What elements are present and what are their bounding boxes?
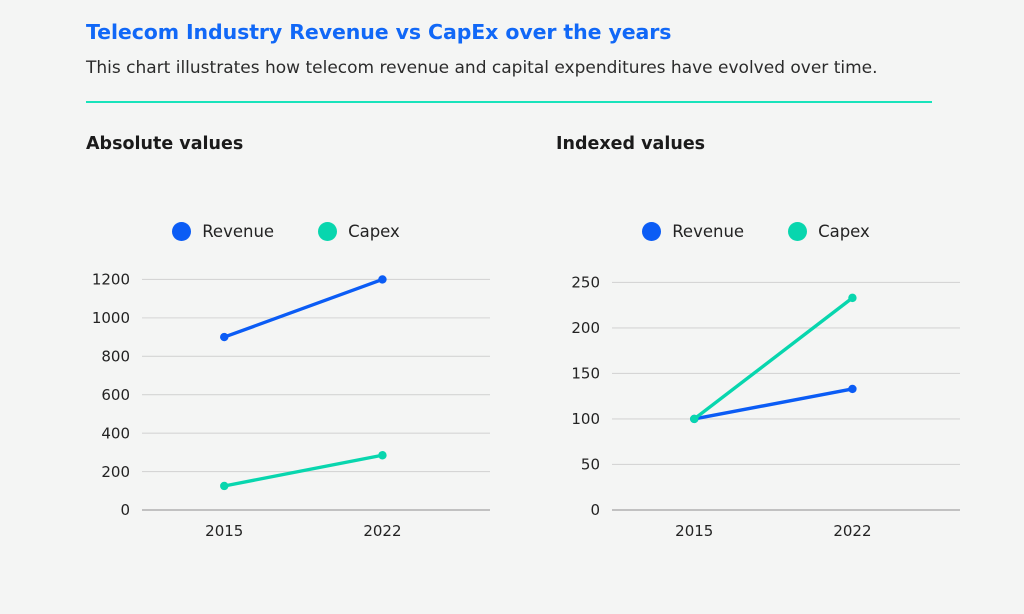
header: Telecom Industry Revenue vs CapEx over t… [86, 20, 966, 78]
data-point-capex[interactable] [378, 451, 386, 459]
legend-absolute: Revenue Capex [86, 222, 486, 241]
data-point-capex[interactable] [690, 415, 698, 423]
y-tick-label: 150 [571, 365, 600, 383]
legend-item-revenue[interactable]: Revenue [172, 222, 274, 241]
y-tick-label: 0 [590, 501, 600, 519]
x-tick-label: 2015 [205, 522, 243, 540]
y-tick-label: 200 [101, 463, 130, 481]
y-tick-label: 50 [581, 456, 600, 474]
header-divider [86, 101, 932, 103]
y-tick-label: 1000 [92, 309, 130, 327]
plot-svg-indexed: 05010015020025020152022 [556, 252, 966, 552]
legend-label-capex: Capex [818, 222, 870, 241]
chart-page: Telecom Industry Revenue vs CapEx over t… [0, 0, 1024, 614]
y-tick-label: 100 [571, 410, 600, 428]
page-subtitle: This chart illustrates how telecom reven… [86, 58, 966, 78]
data-point-revenue[interactable] [848, 385, 856, 393]
y-tick-label: 200 [571, 319, 600, 337]
plot-absolute: 02004006008001000120020152022 [86, 252, 496, 552]
legend-item-capex[interactable]: Capex [788, 222, 870, 241]
page-title: Telecom Industry Revenue vs CapEx over t… [86, 20, 966, 45]
y-tick-label: 250 [571, 274, 600, 292]
y-tick-label: 600 [101, 386, 130, 404]
data-point-revenue[interactable] [378, 275, 386, 283]
legend-dot-capex-icon [788, 222, 807, 241]
legend-dot-revenue-icon [172, 222, 191, 241]
legend-label-revenue: Revenue [202, 222, 274, 241]
legend-dot-capex-icon [318, 222, 337, 241]
x-tick-label: 2015 [675, 522, 713, 540]
panel-heading-absolute: Absolute values [86, 134, 243, 154]
legend-item-capex[interactable]: Capex [318, 222, 400, 241]
panel-absolute-values: Absolute values Revenue Capex 0200400600… [86, 134, 556, 594]
legend-item-revenue[interactable]: Revenue [642, 222, 744, 241]
series-line-revenue [694, 389, 852, 419]
series-line-capex [224, 455, 382, 486]
panel-heading-indexed: Indexed values [556, 134, 705, 154]
x-tick-label: 2022 [833, 522, 871, 540]
panel-indexed-values: Indexed values Revenue Capex 05010015020… [556, 134, 1024, 594]
legend-dot-revenue-icon [642, 222, 661, 241]
legend-label-revenue: Revenue [672, 222, 744, 241]
legend-indexed: Revenue Capex [556, 222, 956, 241]
data-point-capex[interactable] [848, 294, 856, 302]
x-tick-label: 2022 [363, 522, 401, 540]
series-line-revenue [224, 279, 382, 337]
y-tick-label: 1200 [92, 271, 130, 289]
y-tick-label: 400 [101, 424, 130, 442]
plot-svg-absolute: 02004006008001000120020152022 [86, 252, 496, 552]
y-tick-label: 800 [101, 347, 130, 365]
data-point-capex[interactable] [220, 482, 228, 490]
legend-label-capex: Capex [348, 222, 400, 241]
chart-panels: Absolute values Revenue Capex 0200400600… [0, 134, 1024, 594]
y-tick-label: 0 [120, 501, 130, 519]
series-line-capex [694, 298, 852, 419]
plot-indexed: 05010015020025020152022 [556, 252, 966, 552]
data-point-revenue[interactable] [220, 333, 228, 341]
